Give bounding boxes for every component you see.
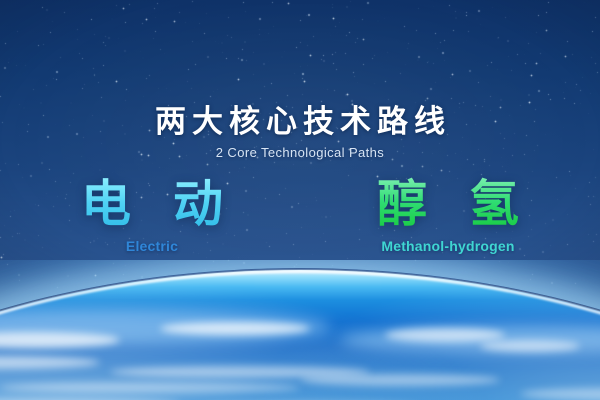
path-electric-label-cn: 电 动 bbox=[57, 176, 247, 232]
path-electric-label-en: Electric bbox=[57, 238, 247, 254]
technology-paths: 电 动 Electric 醇 氢 Methanol-hydrogen bbox=[0, 176, 600, 254]
poster-content: 两大核心技术路线 2 Core Technological Paths 电 动 … bbox=[0, 0, 600, 400]
path-electric: 电 动 Electric bbox=[57, 176, 247, 254]
page-title: 两大核心技术路线 bbox=[0, 104, 600, 140]
path-methanol-hydrogen-label-en: Methanol-hydrogen bbox=[353, 238, 543, 254]
path-methanol-hydrogen-label-cn: 醇 氢 bbox=[353, 176, 543, 232]
path-methanol-hydrogen: 醇 氢 Methanol-hydrogen bbox=[353, 176, 543, 254]
poster-banner: 两大核心技术路线 2 Core Technological Paths 电 动 … bbox=[0, 0, 600, 400]
page-subtitle: 2 Core Technological Paths bbox=[0, 145, 600, 160]
